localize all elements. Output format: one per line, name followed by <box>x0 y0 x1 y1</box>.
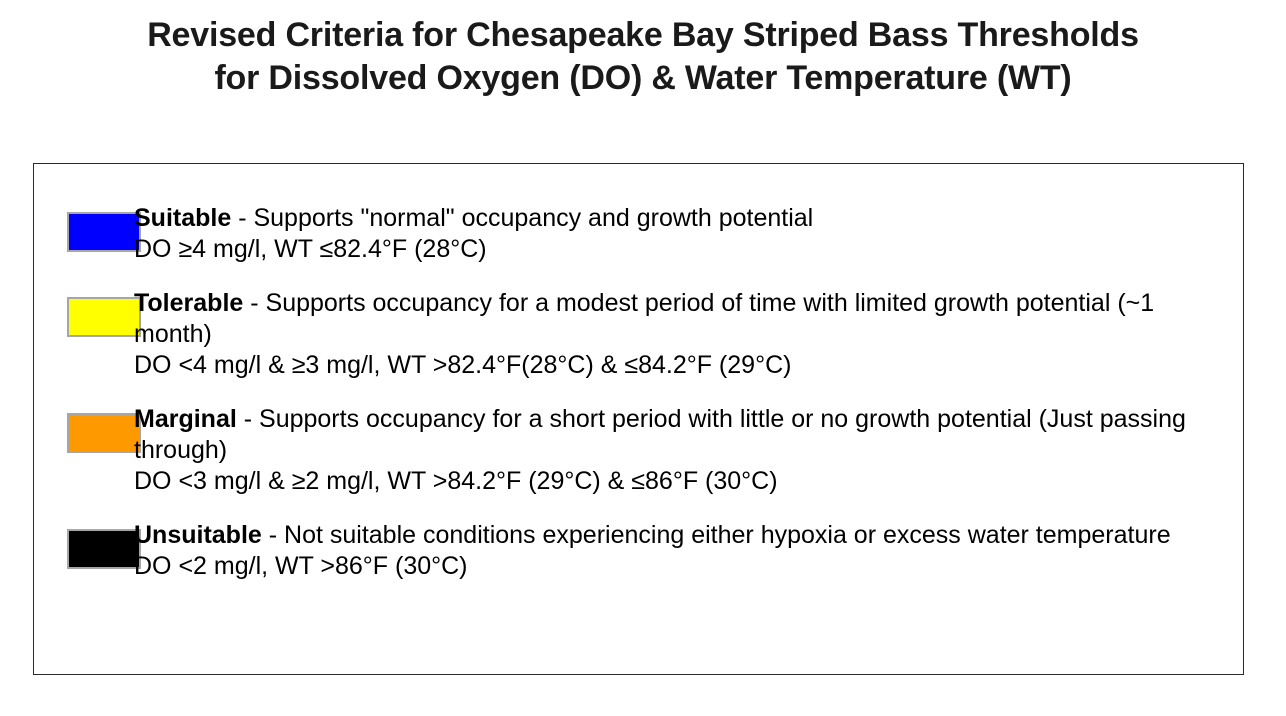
legend-label-unsuitable: Unsuitable <box>134 521 262 549</box>
legend-separator-unsuitable: - <box>262 521 284 549</box>
color-swatch-unsuitable <box>67 529 141 569</box>
page-title: Revised Criteria for Chesapeake Bay Stri… <box>0 14 1286 100</box>
legend-list: Suitable - Supports "normal" occupancy a… <box>34 203 1243 582</box>
legend-description-unsuitable: Unsuitable - Not suitable conditions exp… <box>134 520 1221 551</box>
page-title-line-2: for Dissolved Oxygen (DO) & Water Temper… <box>0 57 1286 100</box>
legend-desc-marginal: Supports occupancy for a short period wi… <box>134 405 1186 464</box>
swatch-cell-suitable <box>34 203 134 252</box>
legend-panel: Suitable - Supports "normal" occupancy a… <box>33 163 1244 675</box>
legend-item-suitable: Suitable - Supports "normal" occupancy a… <box>34 203 1243 265</box>
legend-text-unsuitable: Unsuitable - Not suitable conditions exp… <box>134 520 1243 582</box>
legend-description-marginal: Marginal - Supports occupancy for a shor… <box>134 404 1221 466</box>
color-swatch-suitable <box>67 212 141 252</box>
legend-text-marginal: Marginal - Supports occupancy for a shor… <box>134 404 1243 497</box>
swatch-cell-marginal <box>34 404 134 453</box>
legend-desc-tolerable: Supports occupancy for a modest period o… <box>134 289 1154 348</box>
legend-item-tolerable: Tolerable - Supports occupancy for a mod… <box>34 288 1243 381</box>
legend-separator-marginal: - <box>237 405 259 433</box>
legend-criteria-tolerable: DO <4 mg/l & ≥3 mg/l, WT >82.4°F(28°C) &… <box>134 350 1221 381</box>
legend-criteria-marginal: DO <3 mg/l & ≥2 mg/l, WT >84.2°F (29°C) … <box>134 466 1221 497</box>
color-swatch-tolerable <box>67 297 141 337</box>
legend-text-tolerable: Tolerable - Supports occupancy for a mod… <box>134 288 1243 381</box>
legend-separator-suitable: - <box>231 204 253 232</box>
legend-desc-suitable: Supports "normal" occupancy and growth p… <box>253 204 813 232</box>
legend-label-marginal: Marginal <box>134 405 237 433</box>
legend-desc-unsuitable: Not suitable conditions experiencing eit… <box>284 521 1171 549</box>
swatch-cell-unsuitable <box>34 520 134 569</box>
legend-label-tolerable: Tolerable <box>134 289 243 317</box>
swatch-cell-tolerable <box>34 288 134 337</box>
legend-separator-tolerable: - <box>243 289 265 317</box>
legend-text-suitable: Suitable - Supports "normal" occupancy a… <box>134 203 1243 265</box>
legend-label-suitable: Suitable <box>134 204 231 232</box>
legend-item-marginal: Marginal - Supports occupancy for a shor… <box>34 404 1243 497</box>
legend-item-unsuitable: Unsuitable - Not suitable conditions exp… <box>34 520 1243 582</box>
color-swatch-marginal <box>67 413 141 453</box>
page-title-line-1: Revised Criteria for Chesapeake Bay Stri… <box>0 14 1286 57</box>
legend-description-suitable: Suitable - Supports "normal" occupancy a… <box>134 203 1221 234</box>
legend-criteria-unsuitable: DO <2 mg/l, WT >86°F (30°C) <box>134 551 1221 582</box>
legend-description-tolerable: Tolerable - Supports occupancy for a mod… <box>134 288 1221 350</box>
legend-criteria-suitable: DO ≥4 mg/l, WT ≤82.4°F (28°C) <box>134 234 1221 265</box>
